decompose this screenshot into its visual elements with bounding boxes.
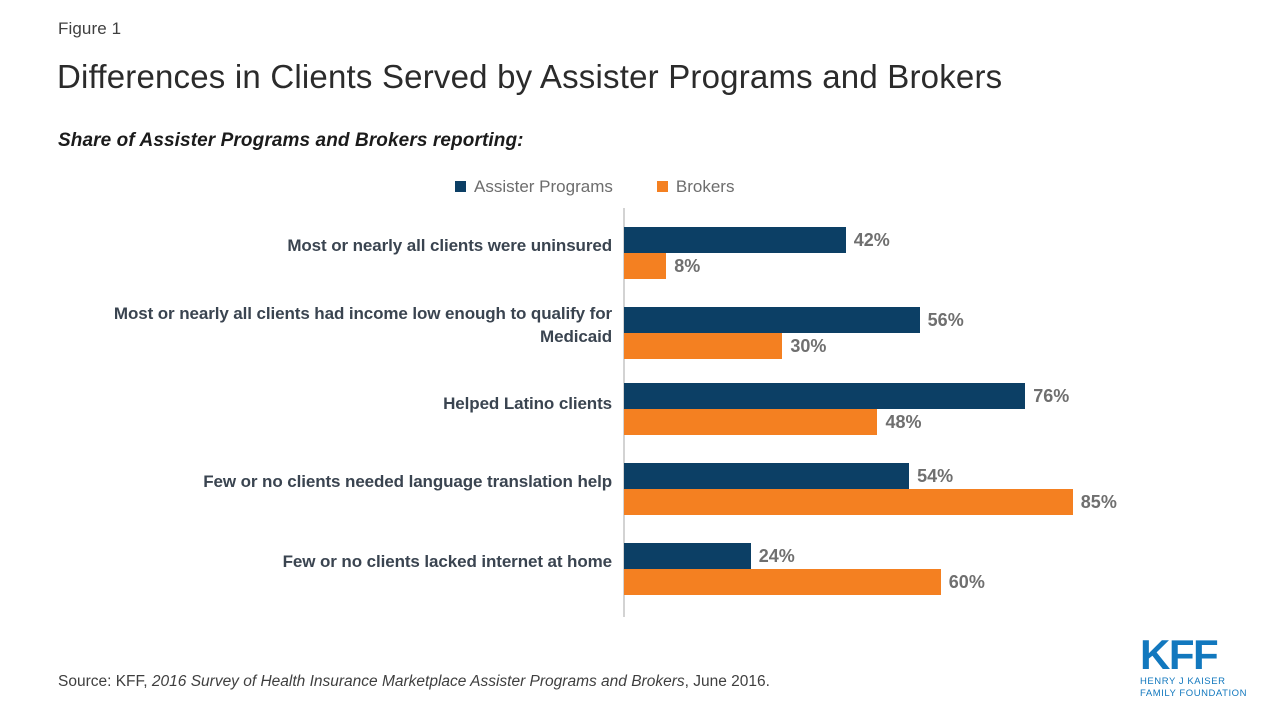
bar-value-label: 8% — [674, 257, 700, 275]
bar-rect — [624, 463, 909, 489]
bar-rect — [624, 543, 751, 569]
bar-rect — [624, 227, 846, 253]
source-note: Source: KFF, 2016 Survey of Health Insur… — [58, 673, 770, 691]
bar-value-label: 24% — [759, 547, 795, 565]
category-label: Few or no clients needed language transl… — [52, 471, 612, 494]
bar-value-label: 60% — [949, 573, 985, 591]
category-label: Most or nearly all clients were uninsure… — [52, 235, 612, 258]
legend-item-assister-programs[interactable]: Assister Programs — [455, 178, 613, 195]
kff-logo-subtitle-line1: HENRY J KAISER — [1140, 676, 1260, 688]
legend-swatch-assister-programs — [455, 181, 466, 192]
bar-brokers[interactable]: 30% — [624, 333, 826, 359]
bar-rect — [624, 383, 1025, 409]
kff-logo: KFF HENRY J KAISER FAMILY FOUNDATION — [1140, 634, 1260, 700]
bar-value-label: 56% — [928, 311, 964, 329]
source-title: 2016 Survey of Health Insurance Marketpl… — [152, 673, 685, 690]
bar-value-label: 76% — [1033, 387, 1069, 405]
bar-rect — [624, 489, 1073, 515]
page-title: Differences in Clients Served by Assiste… — [57, 58, 1002, 96]
category-label: Most or nearly all clients had income lo… — [52, 303, 612, 349]
bar-rect — [624, 409, 877, 435]
bar-value-label: 48% — [885, 413, 921, 431]
kff-logo-wordmark: KFF — [1140, 634, 1260, 676]
category-label: Helped Latino clients — [52, 393, 612, 416]
source-suffix: , June 2016. — [685, 673, 770, 690]
bar-brokers[interactable]: 8% — [624, 253, 700, 279]
bar-value-label: 54% — [917, 467, 953, 485]
bar-value-label: 42% — [854, 231, 890, 249]
bar-assister-programs[interactable]: 54% — [624, 463, 953, 489]
bar-brokers[interactable]: 48% — [624, 409, 921, 435]
bar-assister-programs[interactable]: 24% — [624, 543, 795, 569]
bar-rect — [624, 253, 666, 279]
bar-assister-programs[interactable]: 76% — [624, 383, 1069, 409]
bar-brokers[interactable]: 85% — [624, 489, 1117, 515]
source-prefix: Source: KFF, — [58, 673, 152, 690]
legend-item-brokers[interactable]: Brokers — [657, 178, 735, 195]
legend-swatch-brokers — [657, 181, 668, 192]
bar-assister-programs[interactable]: 42% — [624, 227, 890, 253]
kff-logo-subtitle-line2: FAMILY FOUNDATION — [1140, 688, 1260, 700]
category-label: Few or no clients lacked internet at hom… — [52, 551, 612, 574]
bar-rect — [624, 307, 920, 333]
bar-value-label: 85% — [1081, 493, 1117, 511]
chart-legend: Assister Programs Brokers — [455, 178, 734, 195]
legend-label-assister-programs: Assister Programs — [474, 178, 613, 195]
chart-plot-area: Most or nearly all clients were uninsure… — [0, 208, 1280, 618]
bar-rect — [624, 569, 941, 595]
bar-assister-programs[interactable]: 56% — [624, 307, 964, 333]
legend-label-brokers: Brokers — [676, 178, 735, 195]
bar-value-label: 30% — [790, 337, 826, 355]
bar-rect — [624, 333, 782, 359]
figure-label: Figure 1 — [58, 19, 121, 39]
chart-subtitle: Share of Assister Programs and Brokers r… — [58, 130, 524, 152]
bar-brokers[interactable]: 60% — [624, 569, 985, 595]
